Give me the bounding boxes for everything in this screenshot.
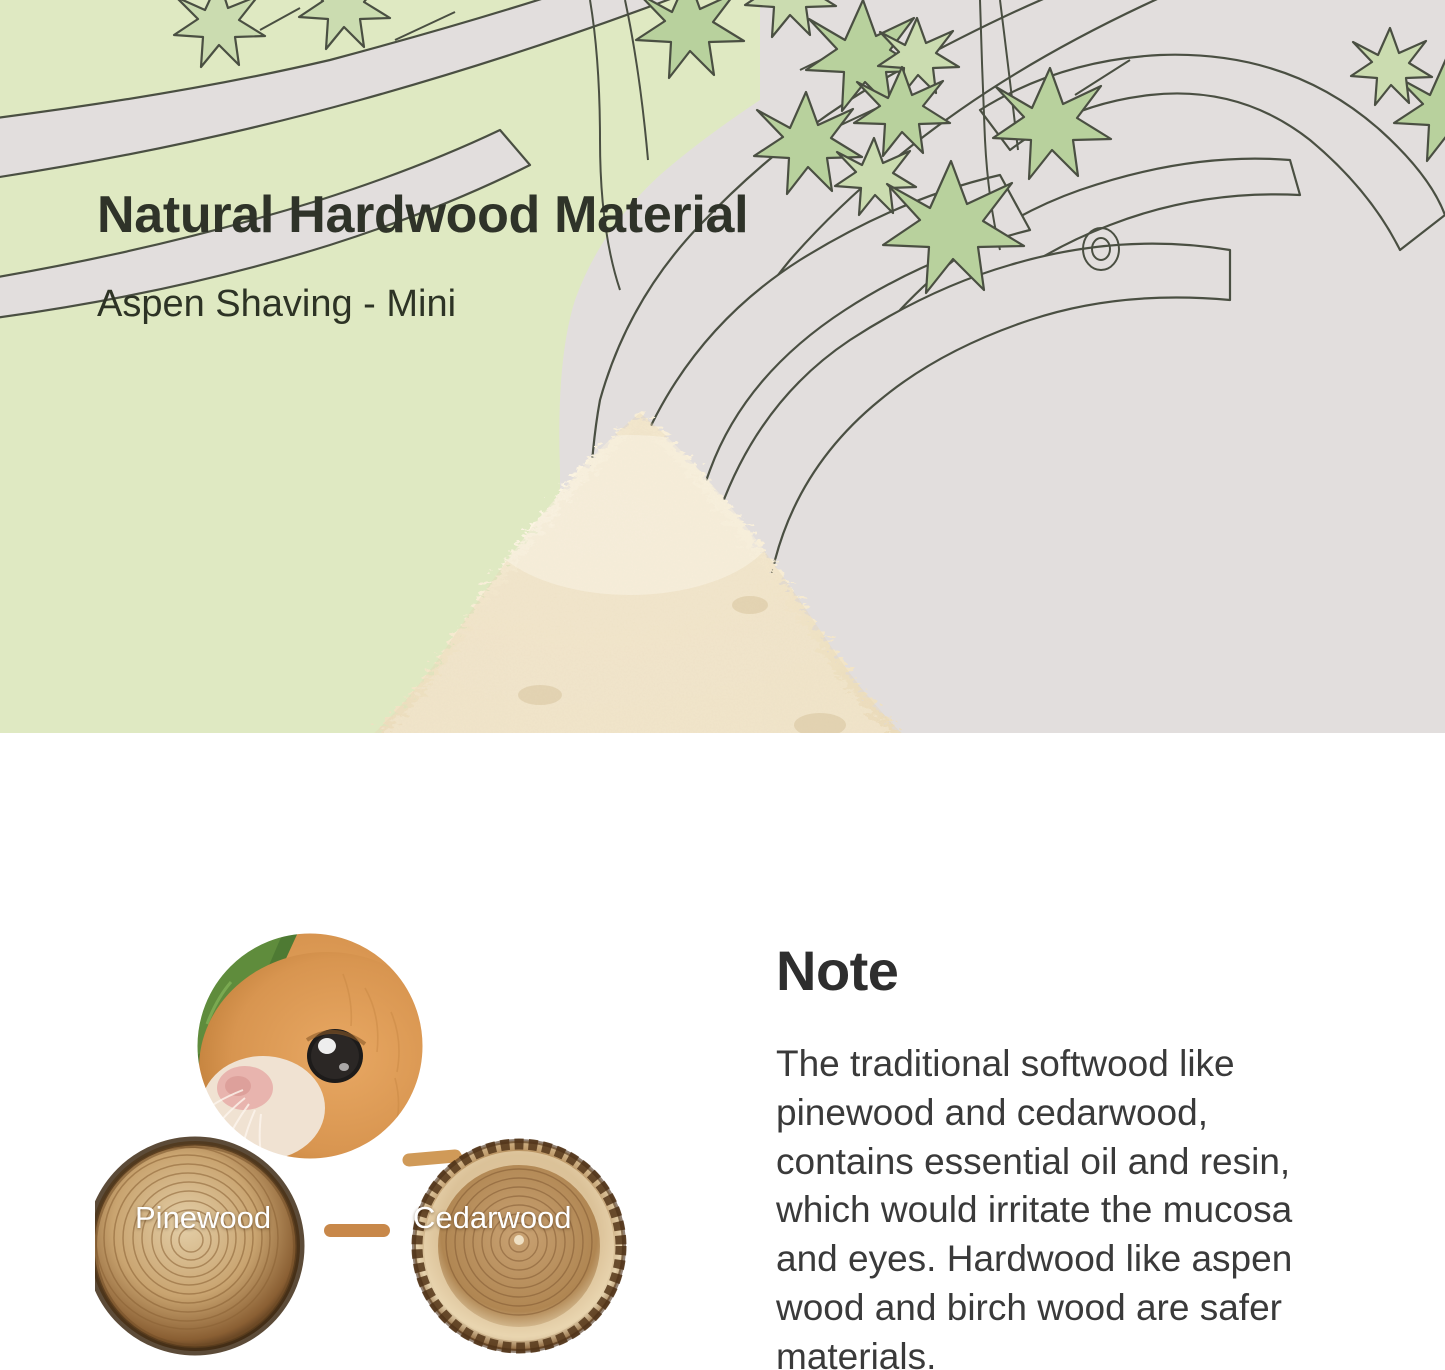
pinewood-cross-section [95, 1141, 300, 1351]
note-body-text: The traditional softwood like pinewood a… [776, 999, 1306, 1370]
cedarwood-cross-section [414, 1141, 624, 1351]
hero-title-block: Natural Hardwood Material Aspen Shaving … [97, 188, 917, 326]
note-section: Pinewood Cedarwood Note The traditional … [0, 733, 1445, 1370]
page-title: Natural Hardwood Material [97, 188, 917, 243]
note-column: Note The traditional softwood like pinew… [776, 943, 1306, 1370]
aspen-shavings-pile-image [130, 395, 1150, 733]
page-subtitle: Aspen Shaving - Mini [97, 243, 917, 326]
note-heading: Note [776, 943, 1306, 999]
product-infographic: .tk { fill:#e2dedd; stroke:#4a4f42; stro… [0, 0, 1445, 1370]
divider-dash [324, 1224, 390, 1237]
wood-comparison-diagram: Pinewood Cedarwood [95, 928, 705, 1370]
hero-section: .tk { fill:#e2dedd; stroke:#4a4f42; stro… [0, 0, 1445, 733]
diagram-graphics [95, 928, 705, 1370]
